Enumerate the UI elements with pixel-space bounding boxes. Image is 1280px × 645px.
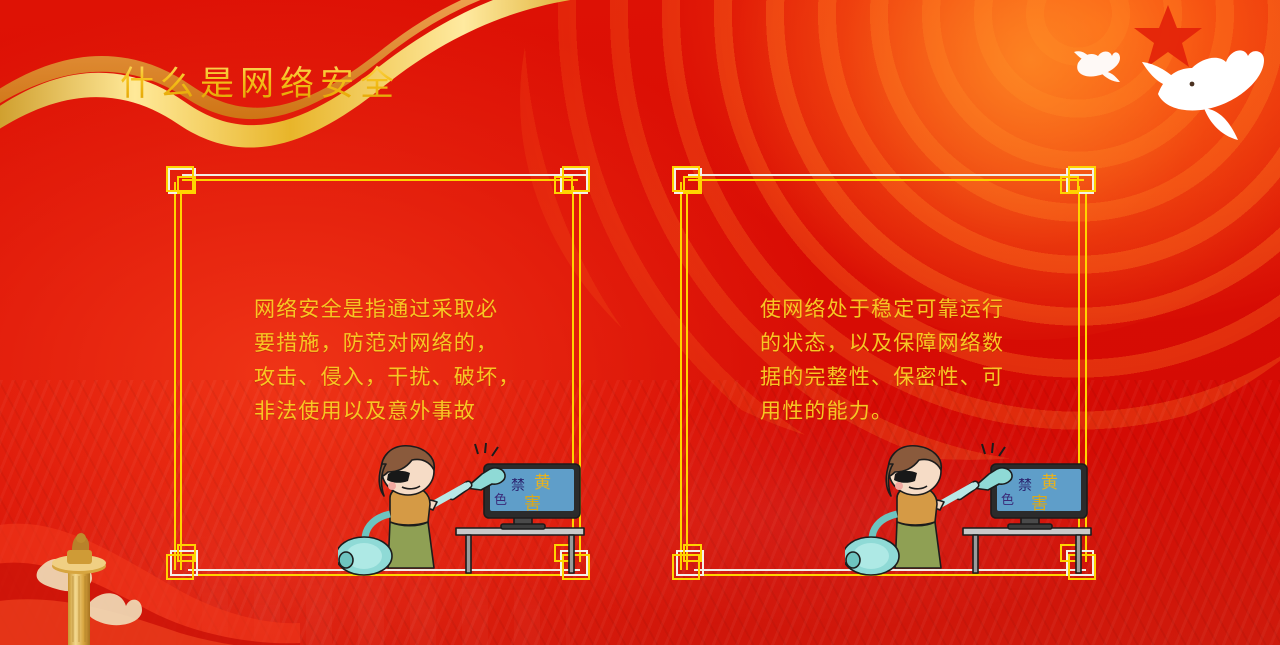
left-panel-line-1: 网络安全是指通过采取必: [254, 292, 524, 326]
right-panel-line-1: 使网络处于稳定可靠运行: [760, 292, 1030, 326]
doves-and-star-icon: [980, 0, 1280, 150]
red-star-icon: [1134, 5, 1202, 67]
left-panel-line-4: 非法使用以及意外事故: [254, 394, 524, 428]
right-panel-line-3: 据的完整性、保密性、可: [760, 360, 1030, 394]
right-panel-text: 使网络处于稳定可靠运行 的状态，以及保障网络数 据的完整性、保密性、可 用性的能…: [760, 292, 1030, 428]
frame-corner-top-right: [1060, 166, 1094, 198]
dove-large-icon: [1142, 50, 1264, 140]
slide-canvas: 网络安全是指通过采取必 要措施，防范对网络的， 攻击、侵入，干扰、破坏， 非法使…: [0, 0, 1280, 645]
illustration-left: 黄 禁 色 害: [338, 442, 588, 577]
frame-corner-top-left: [672, 166, 706, 198]
left-panel-line-2: 要措施，防范对网络的，: [254, 326, 524, 360]
svg-text:禁: 禁: [1018, 478, 1032, 494]
dove-small-icon: [1074, 51, 1120, 82]
frame-corner-top-left: [166, 166, 200, 198]
left-panel-text: 网络安全是指通过采取必 要措施，防范对网络的， 攻击、侵入，干扰、破坏， 非法使…: [254, 292, 524, 428]
svg-text:黄: 黄: [1041, 473, 1058, 493]
frame-corner-bottom-left: [672, 544, 706, 576]
left-panel-line-3: 攻击、侵入，干扰、破坏，: [254, 360, 524, 394]
right-panel-line-2: 的状态，以及保障网络数: [760, 326, 1030, 360]
page-title: 什么是网络安全: [120, 56, 400, 105]
svg-text:害: 害: [1031, 494, 1048, 514]
right-panel-line-4: 用性的能力。: [760, 394, 1030, 428]
svg-text:色: 色: [494, 492, 507, 508]
frame-corner-bottom-left: [166, 544, 200, 576]
svg-text:色: 色: [1001, 492, 1014, 508]
svg-text:黄: 黄: [534, 473, 551, 493]
svg-text:害: 害: [524, 494, 541, 514]
illustration-right: 黄 禁 色 害: [845, 442, 1095, 577]
svg-text:禁: 禁: [511, 478, 525, 494]
frame-corner-top-right: [554, 166, 588, 198]
huabiao-pillar-icon: [18, 530, 168, 645]
